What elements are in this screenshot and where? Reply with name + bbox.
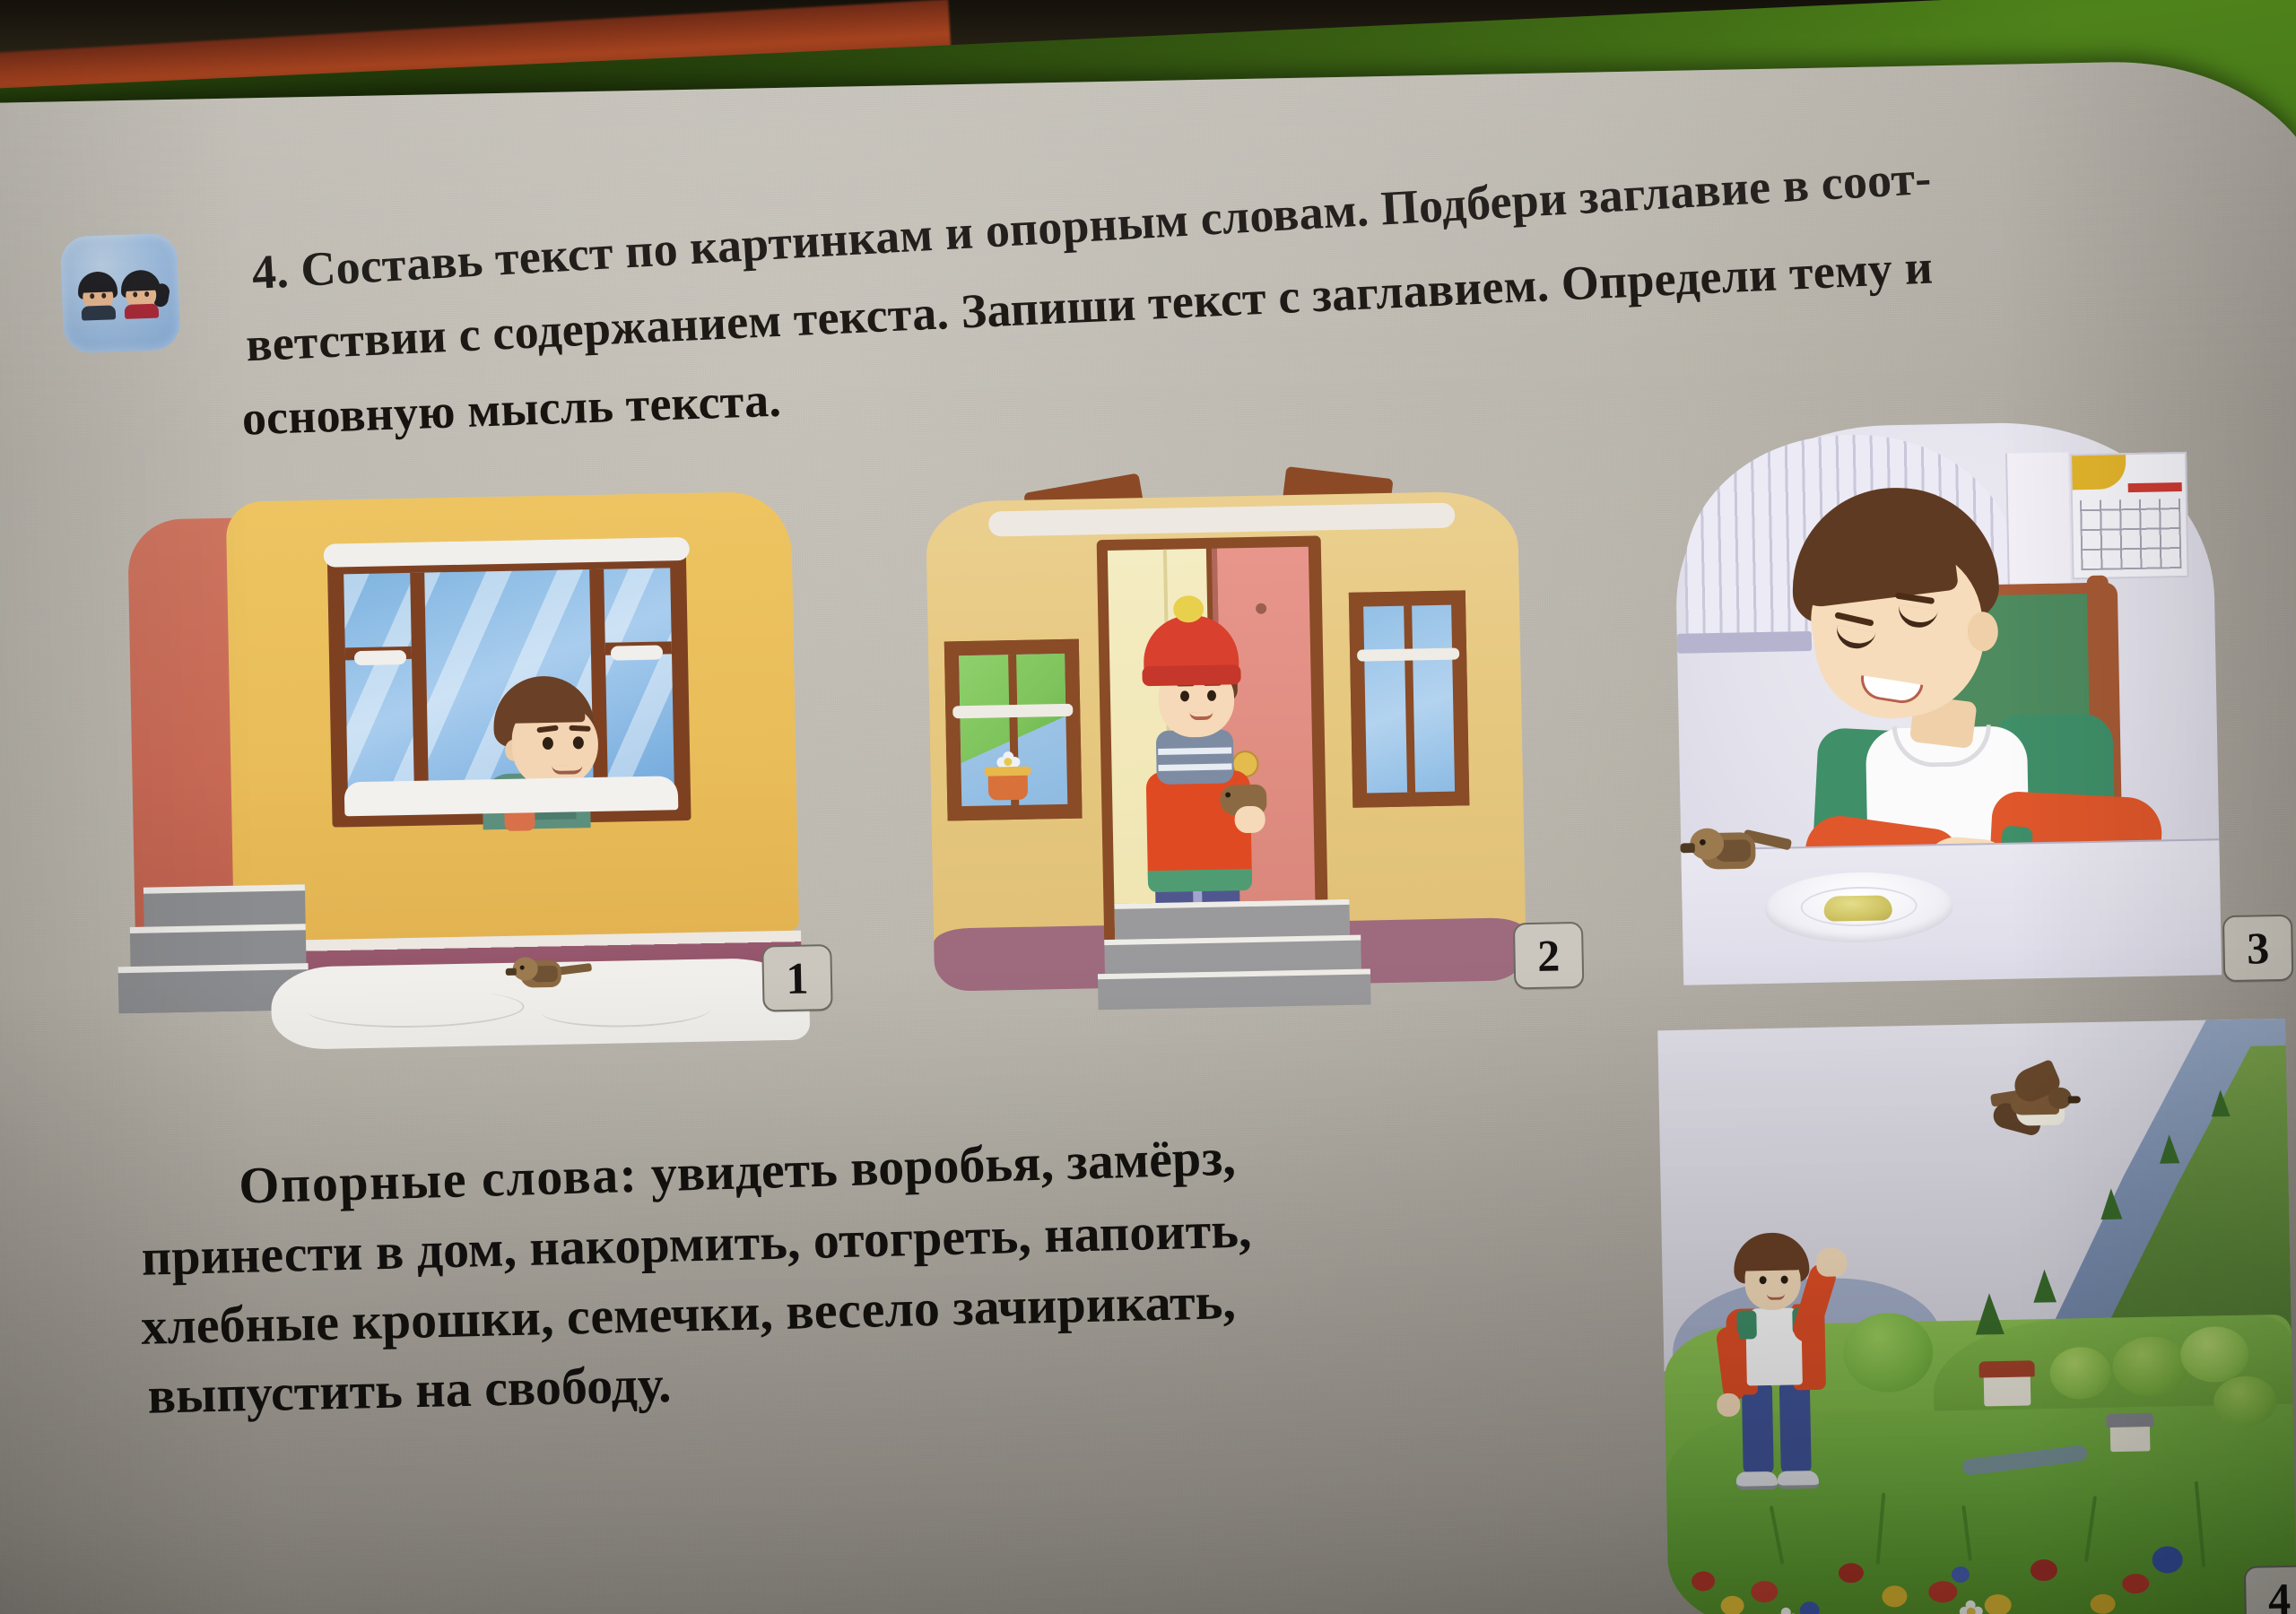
p4-boy-releasing: [1723, 1230, 1899, 1503]
page-content: 4. Составь текст по картинкам и опорным …: [0, 59, 2296, 1614]
p2-boy-jacket-hem: [1148, 869, 1252, 892]
p4-boy-leg-left: [1742, 1382, 1774, 1476]
p2-boy-hand: [1234, 806, 1265, 834]
p4-flower-blue-2: [1952, 1566, 1970, 1583]
pair-work-icon: [60, 233, 181, 354]
p4-boy-legs: [1742, 1381, 1815, 1490]
illustration-number-badge-2: 2: [1513, 922, 1584, 989]
p3-boy-ear: [1967, 612, 1998, 652]
p4-conifer-4: [2159, 1134, 2179, 1164]
p1-step-1: [143, 884, 306, 926]
p4-boy-shoe-left: [1736, 1471, 1778, 1490]
p2-boy-hat-band: [1142, 664, 1240, 686]
p4-conifer-2: [2033, 1269, 2057, 1302]
keywords-text-1: увидеть воробья, замёрз,: [650, 1128, 1237, 1203]
textbook-photo: 4. Составь текст по картинкам и опорным …: [0, 0, 2296, 1614]
p4-boy-hand-raised: [1816, 1247, 1848, 1277]
book-page: 4. Составь текст по картинкам и опорным …: [0, 58, 2296, 1614]
p2-porch-steps: [1096, 899, 1367, 1011]
p3-bird-beak: [1680, 843, 1694, 853]
p4-bird-beak: [2068, 1096, 2081, 1103]
p4-boy-leg-right: [1779, 1381, 1812, 1475]
p4-flower-red-6: [2122, 1574, 2149, 1594]
p4-boy-fringe: [1739, 1246, 1800, 1271]
p3-bird-eye: [1700, 839, 1706, 846]
p4-grass-3: [1961, 1506, 1972, 1561]
p2-window-left: [944, 639, 1083, 821]
illustration-number-badge-1: 1: [761, 944, 832, 1011]
p4-daisy-1: [1775, 1607, 1798, 1614]
sparrow-eating-icon: [1690, 826, 1848, 914]
p2-boy-entering: [1123, 594, 1282, 937]
keywords-block: Опорные слова: увидеть воробья, замёрз, …: [140, 1126, 1598, 1431]
p4-daisy-petal-c: [1781, 1608, 1791, 1614]
p4-boy-hand-down: [1717, 1393, 1740, 1417]
p4-conifer-5: [2211, 1089, 2230, 1116]
p2-boy-eye-right: [1207, 690, 1216, 701]
p4-conifer-3: [2100, 1188, 2123, 1219]
p1-bird-beak: [506, 968, 517, 976]
sparrow-flying-away-icon: [1990, 1065, 2091, 1148]
p4-flower-red-2: [1751, 1581, 1778, 1603]
illustration-3: 3: [1673, 419, 2231, 985]
p4-flower-red-3: [1839, 1563, 1864, 1584]
sparrow-in-snow-icon: [512, 956, 594, 994]
illustration-2: 2: [925, 455, 1545, 1013]
p2-boy-eye-left: [1180, 690, 1189, 701]
p4-village-house-2: [2110, 1425, 2151, 1452]
p2-window-right: [1349, 590, 1470, 807]
p4-daisy2-center: [1967, 1608, 1976, 1614]
p2-step-1: [1114, 899, 1350, 940]
pair-icon-boy: [77, 271, 118, 319]
p4-flower-yellow-3: [1984, 1594, 2011, 1614]
p4-house-roof-1: [1979, 1360, 2034, 1377]
p3-boy-feeding: [1773, 482, 2175, 875]
p4-flower-red-4: [1928, 1581, 1957, 1603]
p4-boy-shoe-right: [1778, 1471, 1819, 1489]
p4-grass-1: [1770, 1506, 1785, 1565]
keywords-label: Опорные слова:: [238, 1145, 639, 1215]
p4-flower-yellow-4: [2090, 1594, 2115, 1614]
girl-fringe: [125, 280, 157, 291]
p4-boy-eye-left: [1760, 1276, 1767, 1284]
p4-daisy-2: [1960, 1600, 1983, 1614]
illustration-number-badge-4: 4: [2244, 1565, 2296, 1614]
p1-boy-fringe: [502, 691, 586, 724]
p2-boy-scarf: [1156, 729, 1234, 785]
p1-bird-eye: [520, 966, 525, 970]
pair-icon-girl: [120, 269, 161, 317]
p4-flower-red-5: [2031, 1559, 2057, 1582]
p4-house-roof-2: [2106, 1413, 2153, 1427]
p4-flower-blue-1: [1800, 1601, 1820, 1614]
exercise-instruction: 4. Составь текст по картинкам и опорным …: [246, 204, 2258, 446]
p1-snow-patch-left: [354, 650, 406, 665]
illustration-number-badge-3: 3: [2222, 915, 2293, 982]
p4-flower-yellow-2: [1882, 1585, 1907, 1608]
p4-flower-yellow-1: [1720, 1596, 1744, 1614]
boy-fringe: [82, 281, 114, 292]
p4-boy-collar-left: [1736, 1310, 1757, 1339]
p4-grass-5: [2195, 1481, 2206, 1567]
girl-eye-left: [133, 291, 137, 297]
illustration-1: 1: [126, 473, 800, 1024]
p1-snow-patch-right: [611, 646, 663, 661]
p1-boy-brow-right: [569, 725, 590, 732]
p2-flower-pot: [988, 773, 1029, 801]
p4-wildflowers: [1666, 1485, 2296, 1614]
p4-grass-4: [2084, 1496, 2097, 1562]
p4-flower-blue-3: [2152, 1546, 2183, 1574]
p4-boy-eye-right: [1781, 1276, 1788, 1284]
p1-step-2: [130, 924, 307, 967]
p4-grass-2: [1876, 1493, 1886, 1565]
p1-sill-snow: [344, 776, 679, 816]
p4-village-house-1: [1984, 1375, 2031, 1406]
boy-body: [82, 305, 117, 320]
girl-body: [125, 304, 160, 319]
p2-step-3: [1098, 968, 1371, 1010]
p2-window-right-snow: [1357, 647, 1459, 661]
p1-window: [327, 551, 691, 828]
p1-boy-eye-right: [573, 736, 584, 749]
p2-step-2: [1104, 935, 1361, 974]
p2-window-left-snow: [952, 704, 1073, 719]
p4-flower-red-1: [1692, 1571, 1715, 1591]
illustration-4: 4: [1657, 1019, 2296, 1614]
p4-conifer-1: [1975, 1293, 2005, 1335]
